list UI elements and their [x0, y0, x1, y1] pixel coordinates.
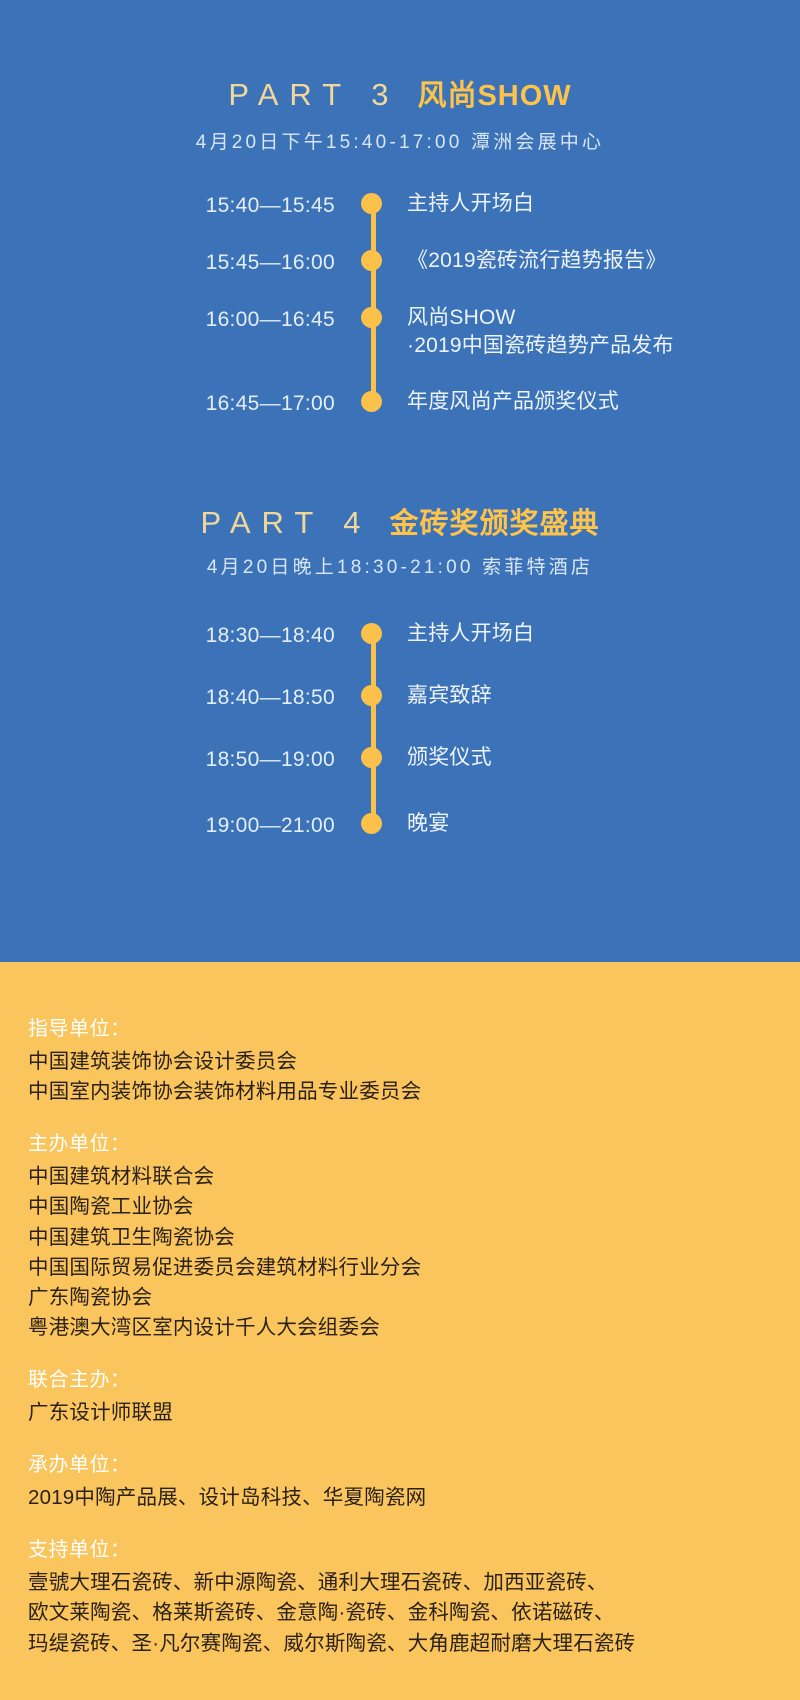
- timeline-desc-line: 主持人开场白: [407, 190, 534, 218]
- timeline-desc-line: 晚宴: [407, 810, 449, 838]
- org-line: 玛缇瓷砖、圣·凡尔赛陶瓷、威尔斯陶瓷、大角鹿超耐磨大理石瓷砖: [28, 1629, 780, 1659]
- org-label: 指导单位：: [28, 1014, 780, 1044]
- timeline-time: 18:30—18:40: [0, 620, 335, 646]
- timeline-time: 15:45—16:00: [0, 247, 335, 273]
- timeline-row: 19:00—21:00 晚宴: [0, 810, 449, 838]
- timeline-desc: 晚宴: [407, 810, 449, 838]
- part3-subtitle: 4月20日下午15:40-17:00 潭洲会展中心: [0, 127, 800, 154]
- org-line: 壹號大理石瓷砖、新中源陶瓷、通利大理石瓷砖、加西亚瓷砖、: [28, 1568, 780, 1598]
- timeline-dot-icon: [361, 685, 382, 706]
- timeline-row: 15:45—16:00 《2019瓷砖流行趋势报告》: [0, 247, 667, 275]
- part4-timeline-line: [371, 638, 376, 828]
- org-line: 中国国际贸易促进委员会建筑材料行业分会: [28, 1253, 780, 1283]
- timeline-time: 19:00—21:00: [0, 810, 335, 836]
- poster-page: PART 3风尚SHOW 4月20日下午15:40-17:00 潭洲会展中心 1…: [0, 0, 800, 1700]
- org-group: 主办单位： 中国建筑材料联合会 中国陶瓷工业协会 中国建筑卫生陶瓷协会 中国国际…: [28, 1129, 780, 1343]
- timeline-desc: 主持人开场白: [407, 620, 534, 648]
- org-label: 承办单位：: [28, 1450, 780, 1480]
- timeline-dot-icon: [361, 193, 382, 214]
- timeline-desc: 主持人开场白: [407, 190, 534, 218]
- org-line: 中国建筑装饰协会设计委员会: [28, 1047, 780, 1077]
- org-group: 指导单位： 中国建筑装饰协会设计委员会 中国室内装饰协会装饰材料用品专业委员会: [28, 1014, 780, 1107]
- timeline-dot-cell: [335, 620, 407, 644]
- timeline-desc-line: 嘉宾致辞: [407, 682, 492, 710]
- timeline-row: 18:50—19:00 颁奖仪式: [0, 744, 492, 772]
- schedule-blue-panel: PART 3风尚SHOW 4月20日下午15:40-17:00 潭洲会展中心 1…: [0, 0, 800, 962]
- part4-title: 金砖奖颁奖盛典: [390, 508, 600, 540]
- org-group: 联合主办： 广东设计师联盟: [28, 1365, 780, 1428]
- part3-label: PART 3: [228, 77, 399, 112]
- timeline-desc: 颁奖仪式: [407, 744, 492, 772]
- part4-subtitle: 4月20日晚上18:30-21:00 索菲特酒店: [0, 552, 800, 579]
- org-label: 支持单位：: [28, 1535, 780, 1565]
- timeline-time: 18:50—19:00: [0, 744, 335, 770]
- timeline-row: 18:30—18:40 主持人开场白: [0, 620, 534, 648]
- part4-heading: PART 4金砖奖颁奖盛典: [0, 500, 800, 542]
- org-line: 中国建筑材料联合会: [28, 1162, 780, 1192]
- part4-label: PART 4: [200, 505, 371, 540]
- timeline-dot-icon: [361, 813, 382, 834]
- org-line: 广东陶瓷协会: [28, 1283, 780, 1313]
- timeline-time: 16:00—16:45: [0, 304, 335, 330]
- part3-heading: PART 3风尚SHOW: [0, 72, 800, 114]
- org-line: 广东设计师联盟: [28, 1398, 780, 1428]
- timeline-row: 18:40—18:50 嘉宾致辞: [0, 682, 492, 710]
- timeline-row: 15:40—15:45 主持人开场白: [0, 190, 534, 218]
- timeline-dot-icon: [361, 391, 382, 412]
- org-label: 联合主办：: [28, 1365, 780, 1395]
- timeline-dot-icon: [361, 747, 382, 768]
- timeline-dot-cell: [335, 304, 407, 328]
- org-line: 2019中陶产品展、设计岛科技、华夏陶瓷网: [28, 1483, 780, 1513]
- timeline-desc: 年度风尚产品颁奖仪式: [407, 388, 619, 416]
- timeline-desc-line: 颁奖仪式: [407, 744, 492, 772]
- timeline-row: 16:45—17:00 年度风尚产品颁奖仪式: [0, 388, 619, 416]
- timeline-dot-cell: [335, 190, 407, 214]
- timeline-row: 16:00—16:45 风尚SHOW ·2019中国瓷砖趋势产品发布: [0, 304, 674, 359]
- timeline-time: 18:40—18:50: [0, 682, 335, 708]
- part4-timeline: 18:30—18:40 主持人开场白 18:40—18:50 嘉宾致辞 18:5…: [0, 620, 800, 850]
- timeline-time: 15:40—15:45: [0, 190, 335, 216]
- timeline-desc: 风尚SHOW ·2019中国瓷砖趋势产品发布: [407, 304, 674, 359]
- org-line: 粤港澳大湾区室内设计千人大会组委会: [28, 1313, 780, 1343]
- timeline-dot-icon: [361, 307, 382, 328]
- org-line: 欧文莱陶瓷、格莱斯瓷砖、金意陶·瓷砖、金科陶瓷、依诺磁砖、: [28, 1598, 780, 1628]
- timeline-desc-line: 年度风尚产品颁奖仪式: [407, 388, 619, 416]
- timeline-desc-line: ·2019中国瓷砖趋势产品发布: [407, 332, 674, 360]
- org-line: 中国室内装饰协会装饰材料用品专业委员会: [28, 1077, 780, 1107]
- timeline-dot-icon: [361, 623, 382, 644]
- org-line: 中国陶瓷工业协会: [28, 1192, 780, 1222]
- timeline-dot-cell: [335, 388, 407, 412]
- timeline-dot-cell: [335, 810, 407, 834]
- org-label: 主办单位：: [28, 1129, 780, 1159]
- part3-title: 风尚SHOW: [417, 80, 571, 112]
- org-group: 支持单位： 壹號大理石瓷砖、新中源陶瓷、通利大理石瓷砖、加西亚瓷砖、 欧文莱陶瓷…: [28, 1535, 780, 1658]
- timeline-desc-line: 《2019瓷砖流行趋势报告》: [407, 247, 667, 275]
- timeline-desc-line: 主持人开场白: [407, 620, 534, 648]
- part3-timeline-line: [371, 208, 376, 398]
- timeline-dot-icon: [361, 250, 382, 271]
- timeline-desc: 《2019瓷砖流行趋势报告》: [407, 247, 667, 275]
- timeline-dot-cell: [335, 247, 407, 271]
- org-line: 中国建筑卫生陶瓷协会: [28, 1223, 780, 1253]
- timeline-dot-cell: [335, 682, 407, 706]
- timeline-desc-line: 风尚SHOW: [407, 304, 674, 332]
- timeline-desc: 嘉宾致辞: [407, 682, 492, 710]
- organizations-yellow-panel: 指导单位： 中国建筑装饰协会设计委员会 中国室内装饰协会装饰材料用品专业委员会 …: [0, 962, 800, 1700]
- part3-timeline: 15:40—15:45 主持人开场白 15:45—16:00 《2019瓷砖流行…: [0, 190, 800, 430]
- timeline-dot-cell: [335, 744, 407, 768]
- org-group: 承办单位： 2019中陶产品展、设计岛科技、华夏陶瓷网: [28, 1450, 780, 1513]
- timeline-time: 16:45—17:00: [0, 388, 335, 414]
